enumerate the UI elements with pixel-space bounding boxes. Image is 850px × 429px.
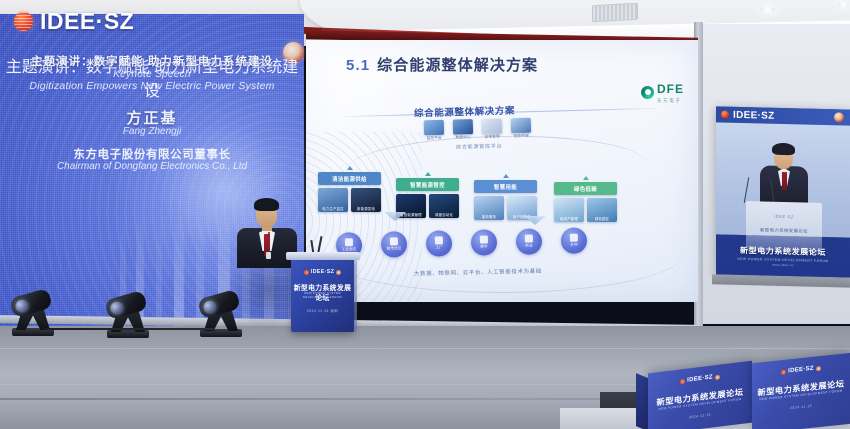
slide-diagram: 综合能源整体解决方案 监控平台 数据中心 运维管理 智能终端: [306, 40, 698, 302]
scenario-label: 乡村: [570, 243, 578, 248]
diagram-heading: 综合能源整体解决方案: [414, 103, 515, 120]
stage-light-cable: [44, 328, 214, 330]
diagram-category-label: 智慧用能: [474, 180, 537, 193]
scenario-label: 城市社区: [386, 246, 401, 251]
people-icon: [482, 118, 502, 133]
microphone-icon: [744, 177, 750, 203]
diagram-category: 智慧能源管控 智慧能源管理 调度自动化: [396, 172, 459, 218]
speaker-hair: [254, 198, 279, 211]
ceiling-downlight: [760, 6, 775, 13]
video-panel-logo: IDEE·SZ: [733, 109, 775, 121]
building-icon: [480, 235, 488, 243]
podium-top-surface: [286, 252, 360, 260]
monitor-icon: [424, 120, 444, 135]
speaker-name-cn: 方正基: [0, 107, 304, 128]
keynote-speech-label: Keynote Speech: [0, 69, 304, 80]
idee-sz-logo: IDEE·SZ: [14, 8, 134, 35]
scenario-label: 工厂: [435, 245, 443, 250]
tent-card: IDEE·SZ 新型电力系统发展论坛 NEW POWER SYSTEM DEVE…: [752, 353, 850, 429]
commerce-icon: [525, 235, 533, 243]
diagram-category-images: 智慧能源管理 调度自动化: [396, 194, 459, 218]
diagram-icon-tile: 监控平台: [424, 120, 445, 141]
keynote-topic-en: Digitization Empowers New Electric Power…: [0, 80, 304, 92]
video-lower-third-banner: 新型电力系统发展论坛 NEW POWER SYSTEM DEVELOPMENT …: [716, 234, 850, 277]
diagram-category-label: 清洁能源供给: [318, 172, 381, 185]
video-podium-logo: IDEE·SZ: [746, 213, 822, 220]
diagram-category-label: 智慧能源管控: [396, 178, 459, 191]
conference-stage-photo: IDEE·SZ 主题演讲：数字赋能 助力新型电力系统建设 主题演讲：数字赋能 助…: [0, 0, 850, 429]
podium-logo: IDEE·SZ: [291, 269, 354, 275]
speaker-badge: [266, 252, 271, 259]
globe-icon: [14, 12, 33, 31]
scenario-label: 商业: [525, 244, 533, 249]
tent-card-logo: IDEE·SZ: [752, 362, 850, 378]
podium-logo-text: IDEE·SZ: [311, 269, 334, 275]
podium-title-en: NEW POWER SYSTEM DEVELOPMENT FORUM: [291, 291, 354, 299]
podium-date: 2024·11·15 深圳: [291, 308, 354, 313]
diagram-category-label: 绿色低碳: [554, 182, 617, 195]
diagram-thumb-caption: 电力生产监控: [318, 206, 348, 211]
tent-card-date: 2024·11·15: [752, 400, 850, 414]
video-speaker-tie: [782, 172, 787, 190]
seal-emblem-icon: [834, 112, 844, 122]
spotlight-lens-icon: [109, 300, 125, 316]
diagram-category: 清洁能源供给 电力生产监控 新能源发电: [318, 166, 381, 212]
globe-icon: [781, 369, 786, 375]
factory-icon: [435, 236, 443, 244]
tent-card: IDEE·SZ 新型电力系统发展论坛 NEW POWER SYSTEM DEVE…: [648, 361, 752, 429]
presentation-screen: 5.1综合能源整体解决方案 DFE 东方电子 综合能源整体解决方案 监控平台 数…: [306, 40, 698, 302]
speaker-name-en: Fang Zhengji: [0, 126, 304, 137]
idee-sz-logo-text: IDEE·SZ: [40, 8, 134, 35]
live-video-panel: IDEE·SZ IDEE·SZ 新型电力系统发展论坛 新型电力系统发展论坛 NE…: [716, 106, 850, 277]
diagram-category-images: 电力生产监控 新能源发电: [318, 188, 381, 212]
diagram-thumb: 新能源发电: [351, 188, 381, 212]
diagram-thumb-caption: 绿色园区: [587, 216, 617, 221]
globe-icon: [721, 110, 729, 118]
tent-card-face: IDEE·SZ 新型电力系统发展论坛 NEW POWER SYSTEM DEVE…: [648, 361, 752, 429]
podium: IDEE·SZ 新型电力系统发展论坛 NEW POWER SYSTEM DEVE…: [291, 258, 354, 332]
spotlight-lens-icon: [14, 298, 30, 314]
diagram-thumb-caption: 新能源发电: [351, 206, 381, 211]
diagram-category: 绿色低碳 碳资产管理 绿色园区: [554, 176, 617, 222]
speaker-lanyard: [268, 232, 270, 252]
tent-card-face: IDEE·SZ 新型电力系统发展论坛 NEW POWER SYSTEM DEVE…: [752, 353, 850, 429]
scenario-label: 楼宇: [480, 244, 488, 249]
diagram-thumb-caption: 能效服务: [474, 214, 504, 219]
diagram-thumb-caption: 调度自动化: [429, 212, 459, 217]
diagram-down-arrow: [524, 216, 546, 225]
terminal-icon: [511, 118, 531, 133]
tent-card-logo-text: IDEE·SZ: [788, 366, 814, 375]
video-speaker-hair: [772, 143, 795, 156]
diagram-thumb: 碳资产管理: [554, 198, 584, 222]
ceiling-air-vent: [592, 3, 638, 22]
diagram-thumb-caption: 碳资产管理: [554, 216, 584, 221]
diagram-thumb: 绿色园区: [587, 198, 617, 222]
speaker-org-cn: 东方电子股份有限公司董事长: [0, 146, 304, 162]
industry-icon: [345, 238, 353, 246]
speaker-org-en: Chairman of Dongfang Electronics Co., Lt…: [0, 161, 304, 172]
city-icon: [390, 237, 398, 245]
stage-light: [105, 294, 151, 338]
globe-icon: [680, 378, 685, 384]
tent-card-logo-text: IDEE·SZ: [687, 374, 713, 383]
video-panel-feed: IDEE·SZ 新型电力系统发展论坛: [716, 122, 850, 237]
diagram-category: 智慧用能 能效服务 用户侧服务: [474, 174, 537, 220]
ceiling-downlight: [838, 2, 849, 8]
seal-emblem-icon: [715, 374, 720, 380]
diagram-thumb: 调度自动化: [429, 194, 459, 218]
globe-icon: [304, 270, 309, 275]
keynote-topic-cn-styled: 主题演讲：数字赋能 助力新型电力系统建设: [0, 53, 304, 69]
diagram-category-images: 碳资产管理 绿色园区: [554, 198, 617, 222]
video-banner-cn: 新型电力系统发展论坛: [740, 244, 826, 257]
diagram-platform-label: 综合能源管控平台: [456, 142, 503, 150]
scenario-badge: 乡村: [561, 227, 588, 254]
seal-emblem-icon: [336, 270, 341, 275]
video-podium-title: 新型电力系统发展论坛: [746, 227, 822, 235]
seal-emblem-icon: [816, 365, 821, 371]
video-banner-url: www.idee.sz: [772, 262, 794, 267]
diagram-thumb: 能效服务: [474, 196, 504, 220]
scenario-badge: 商业: [516, 228, 543, 255]
diagram-thumb: 电力生产监控: [318, 188, 348, 212]
spotlight-lens-icon: [202, 299, 218, 315]
server-icon: [453, 119, 473, 134]
village-icon: [570, 234, 578, 242]
